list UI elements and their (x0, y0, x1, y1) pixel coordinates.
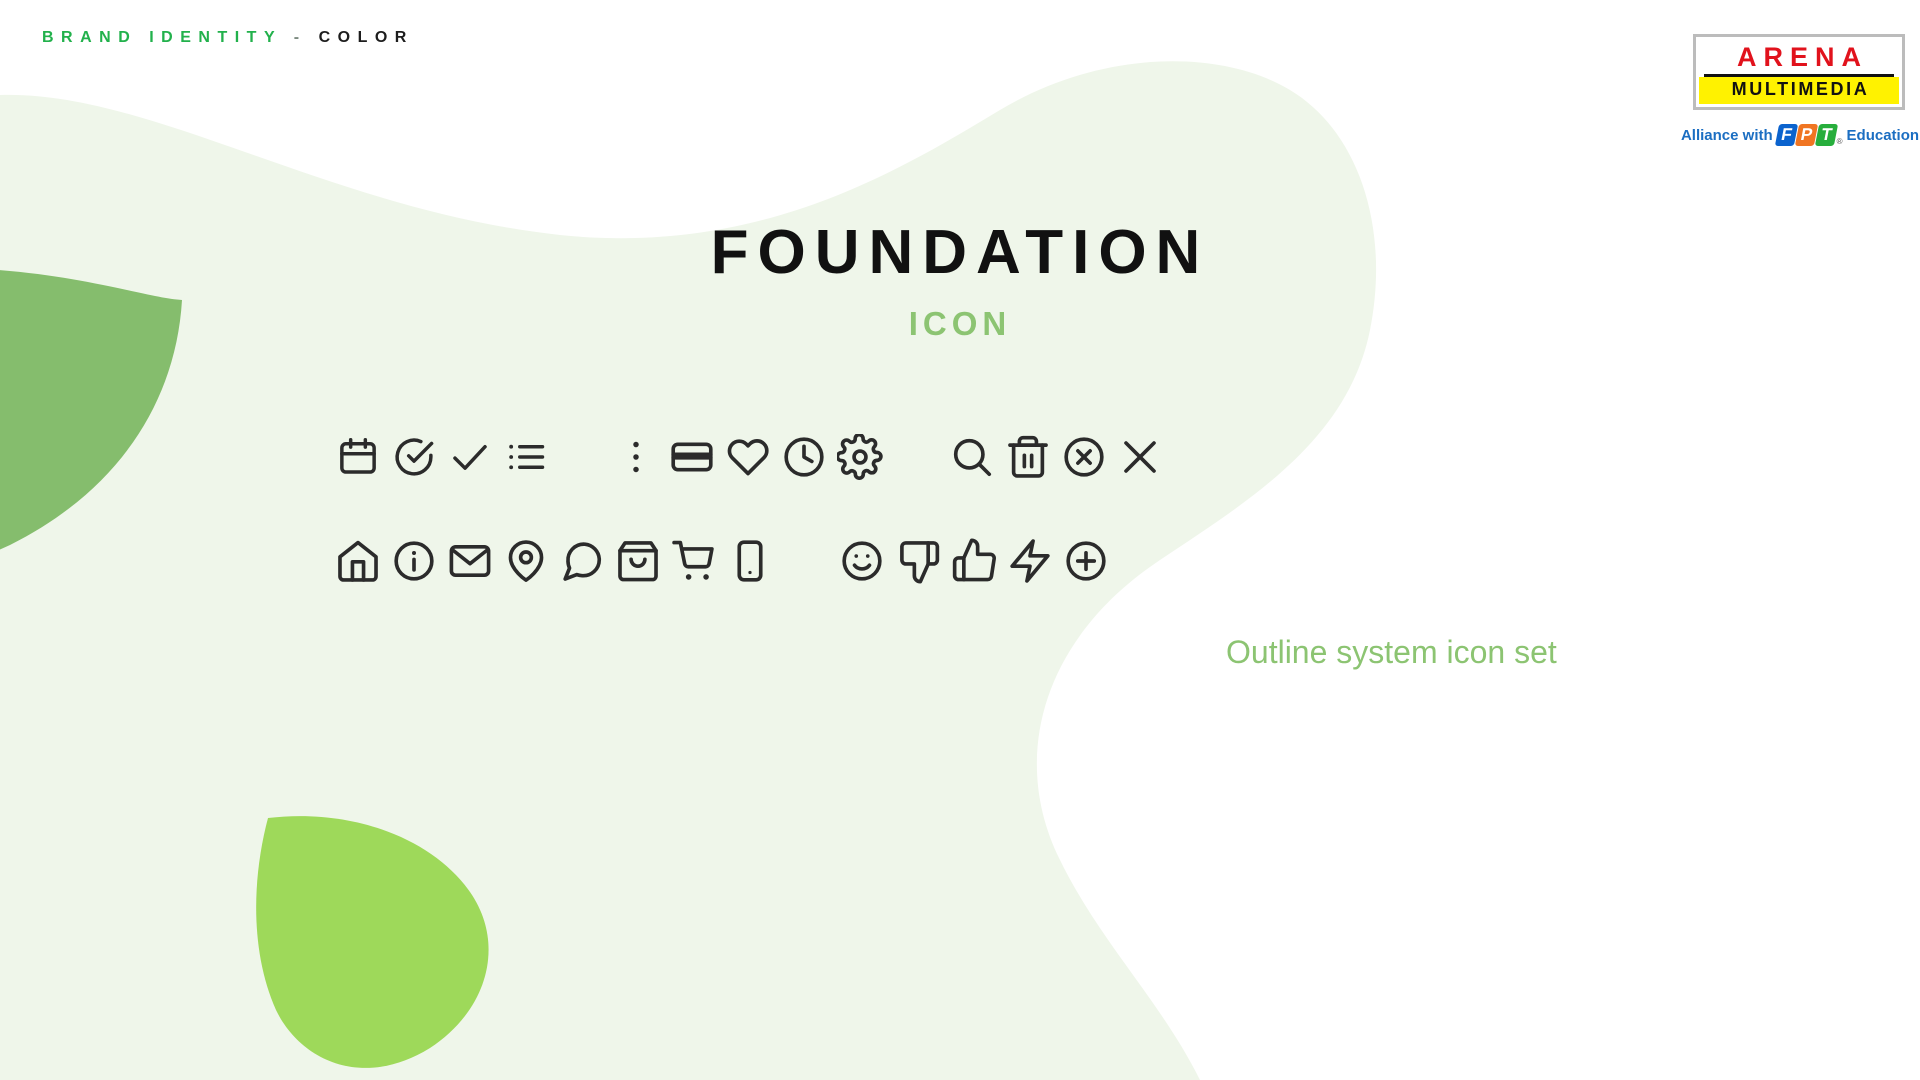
smiley-icon[interactable] (834, 522, 890, 600)
logo-arena-text: ARENA (1730, 44, 1868, 71)
thumbs-up-icon[interactable] (946, 522, 1002, 600)
icon-set-caption: Outline system icon set (1226, 634, 1557, 671)
fpt-letter-p: P (1795, 124, 1818, 146)
breadcrumb-brand-identity: BRAND IDENTITY (42, 29, 282, 46)
heart-icon[interactable] (720, 418, 776, 496)
shopping-cart-icon[interactable] (666, 522, 722, 600)
breadcrumb-color: COLOR (319, 29, 414, 46)
close-x-icon[interactable] (1112, 418, 1168, 496)
fpt-registered-mark: ® (1837, 137, 1843, 146)
more-vertical-icon[interactable] (608, 418, 664, 496)
calendar-icon[interactable] (330, 418, 386, 496)
fpt-letter-f: F (1775, 124, 1798, 146)
trash-icon[interactable] (1000, 418, 1056, 496)
logo-box: ARENA MULTIMEDIA (1693, 34, 1905, 110)
alliance-suffix-text: Education (1847, 127, 1920, 144)
alliance-line: Alliance with F P T ® Education (1693, 124, 1907, 146)
info-circle-icon[interactable] (386, 522, 442, 600)
lightning-bolt-icon[interactable] (1002, 522, 1058, 600)
smartphone-icon[interactable] (722, 522, 778, 600)
home-icon[interactable] (330, 522, 386, 600)
fpt-logo: F P T ® (1777, 124, 1843, 146)
clock-icon[interactable] (776, 418, 832, 496)
page-subtitle: ICON (0, 307, 1920, 340)
icon-row-2 (330, 522, 1114, 600)
breadcrumb-separator: - (294, 29, 307, 46)
logo-multimedia-band: MULTIMEDIA (1699, 77, 1899, 104)
map-pin-icon[interactable] (498, 522, 554, 600)
arena-multimedia-logo: ARENA MULTIMEDIA Alliance with F P T ® E… (1693, 34, 1907, 146)
page-title: FOUNDATION (0, 222, 1920, 284)
plus-circle-icon[interactable] (1058, 522, 1114, 600)
thumbs-down-icon[interactable] (890, 522, 946, 600)
check-circle-icon[interactable] (386, 418, 442, 496)
credit-card-icon[interactable] (664, 418, 720, 496)
x-circle-icon[interactable] (1056, 418, 1112, 496)
icon-row-1 (330, 418, 1168, 496)
slide-canvas: BRAND IDENTITY - COLOR ARENA MULTIMEDIA … (0, 0, 1920, 1080)
fpt-letter-t: T (1815, 124, 1838, 146)
chat-bubble-icon[interactable] (554, 522, 610, 600)
settings-gear-icon[interactable] (832, 418, 888, 496)
breadcrumb: BRAND IDENTITY - COLOR (42, 29, 414, 47)
shopping-bag-icon[interactable] (610, 522, 666, 600)
list-icon[interactable] (498, 418, 554, 496)
alliance-prefix-text: Alliance with (1681, 127, 1773, 144)
mail-icon[interactable] (442, 522, 498, 600)
search-icon[interactable] (944, 418, 1000, 496)
check-icon[interactable] (442, 418, 498, 496)
logo-arena-band: ARENA (1699, 40, 1899, 73)
logo-multimedia-text: MULTIMEDIA (1729, 80, 1870, 98)
